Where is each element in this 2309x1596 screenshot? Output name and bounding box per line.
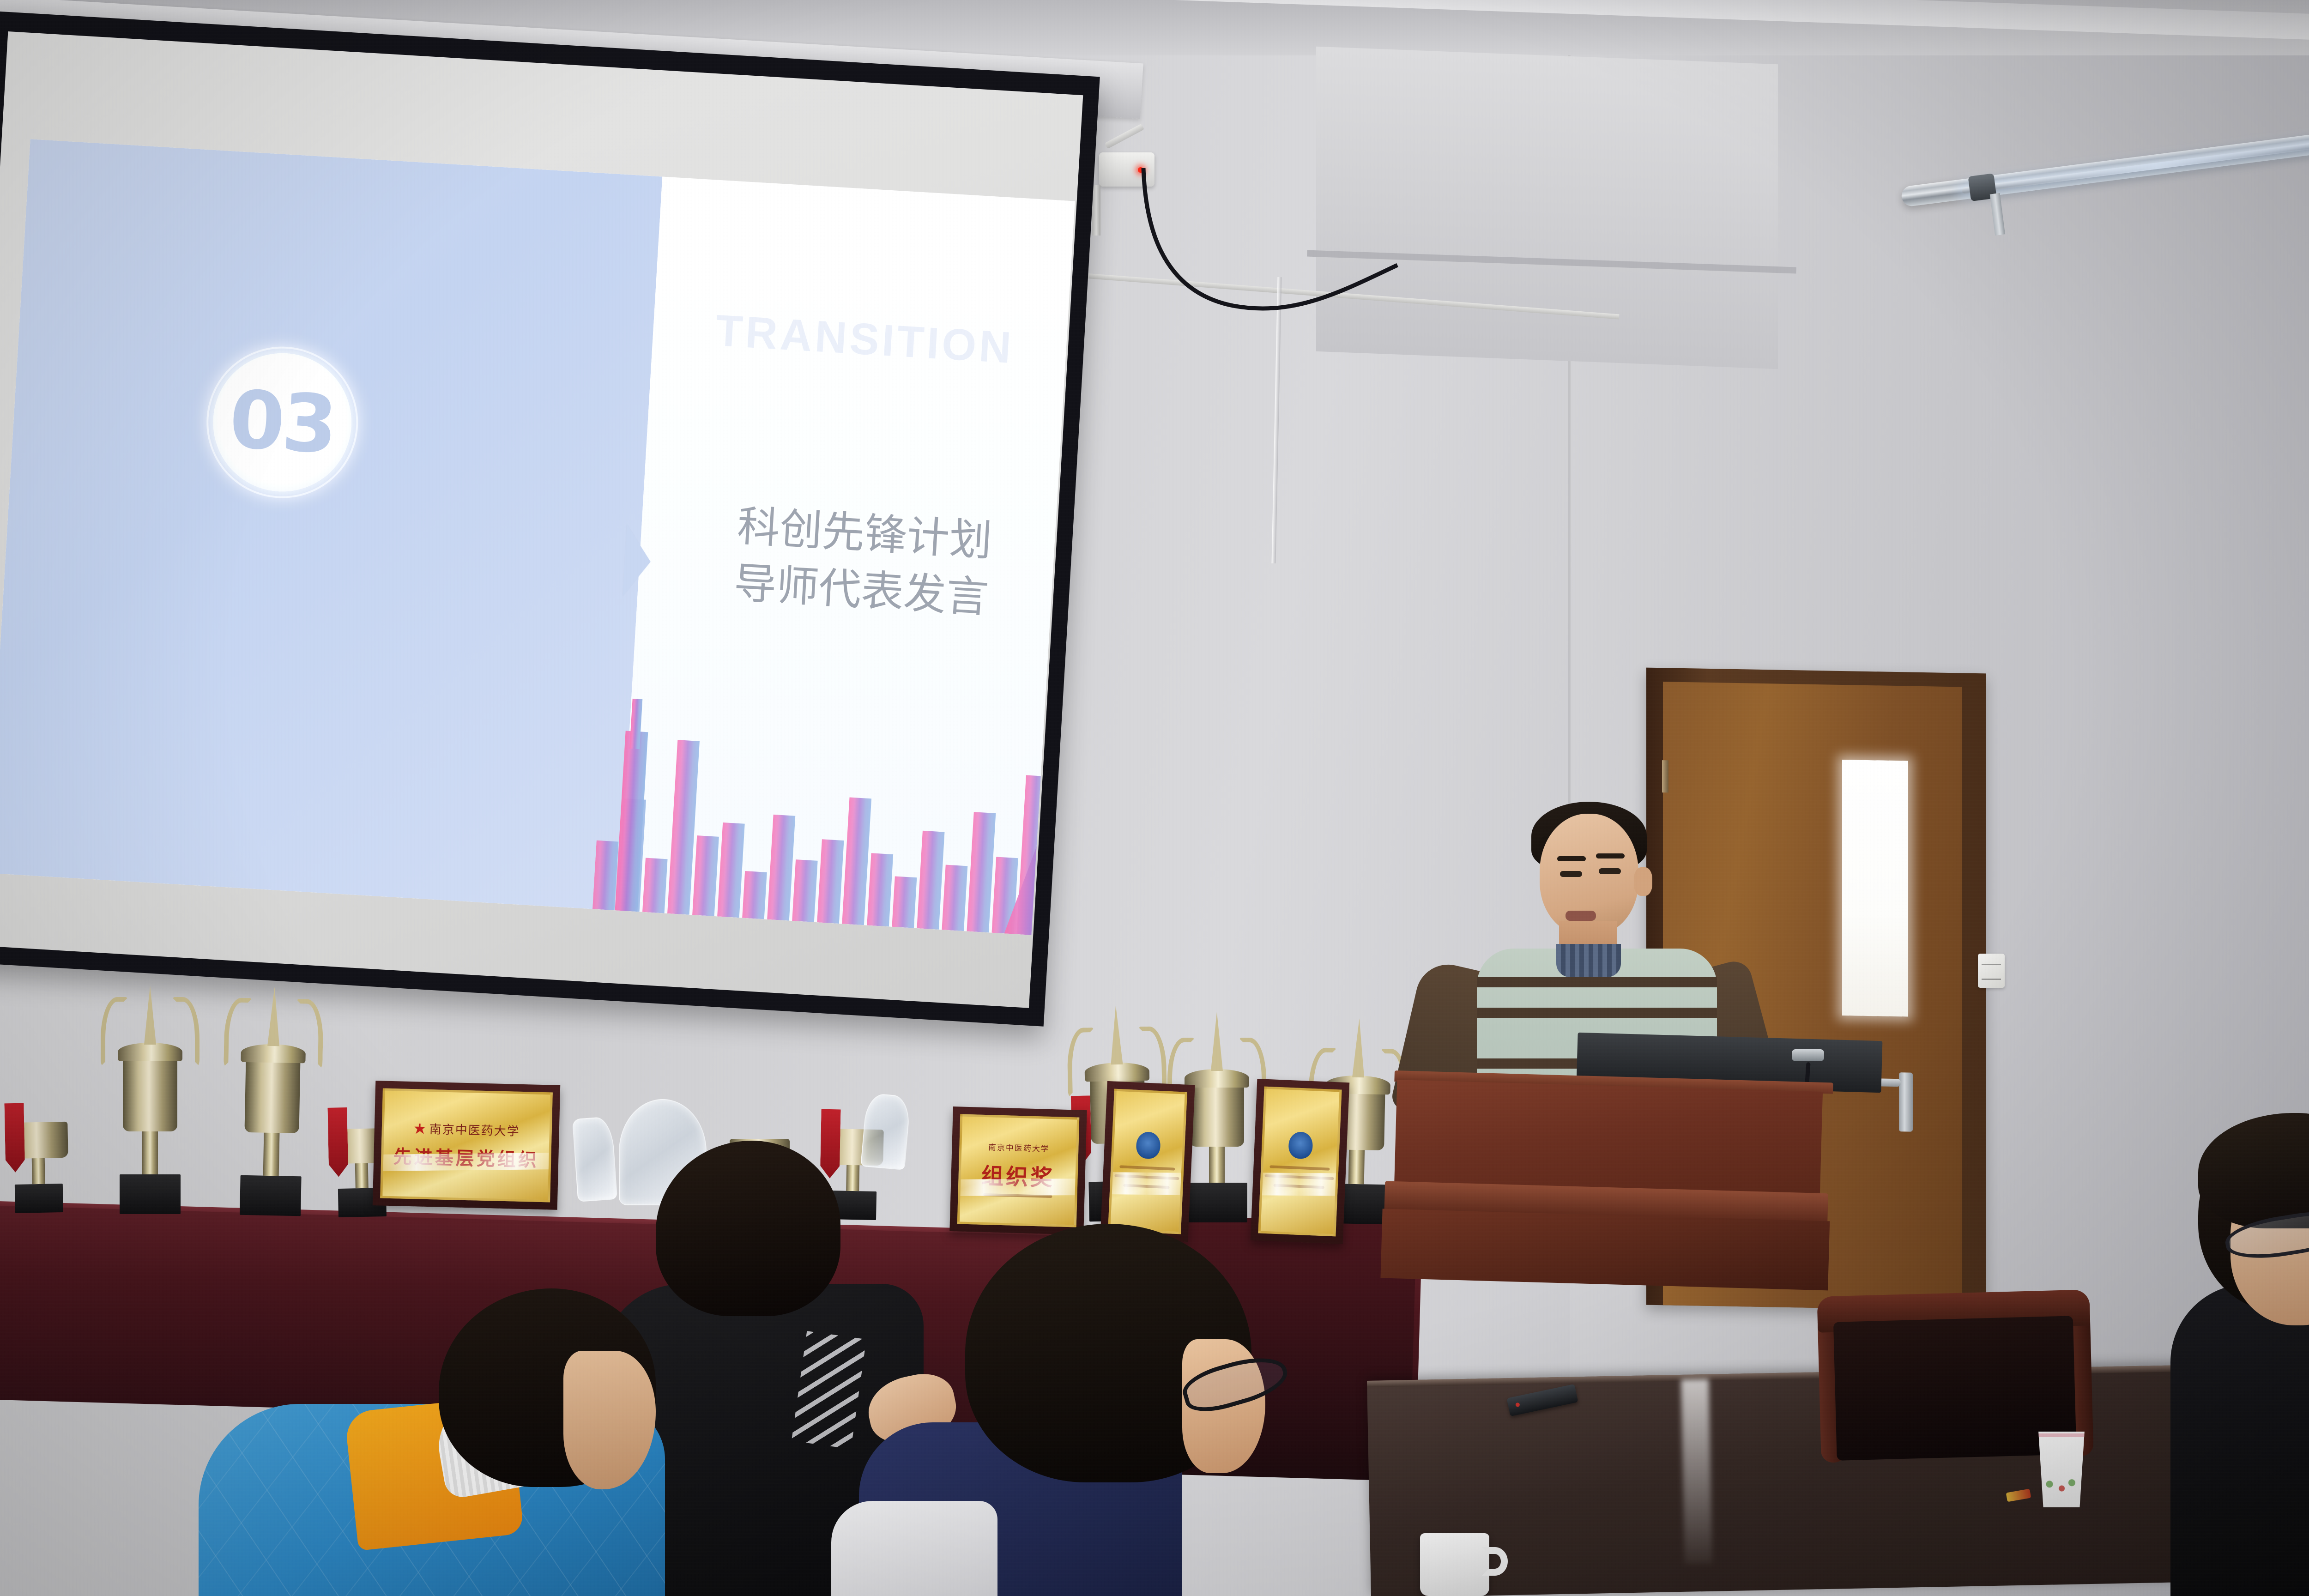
skyline-building bbox=[717, 822, 745, 918]
screen-roller-control[interactable] bbox=[1099, 152, 1154, 187]
cup-rim bbox=[2037, 1433, 2086, 1437]
light-switch[interactable] bbox=[1978, 954, 2005, 988]
projection-screen-surface: 03 TRANSITION 科创先锋计划 导师代表发言 bbox=[0, 31, 1083, 1008]
skyline-building bbox=[767, 815, 795, 921]
paper-cup[interactable] bbox=[2035, 1432, 2088, 1507]
speaker-podium bbox=[1389, 1070, 1833, 1286]
conference-room-scene: Lts 03 TRANSITION 科创先锋计划 导师代表发言 bbox=[0, 0, 2309, 1596]
sweater-stripe-2 bbox=[1477, 1008, 1717, 1018]
section-number-badge: 03 bbox=[209, 349, 355, 496]
trophy-finial bbox=[267, 987, 280, 1046]
plaque-line-1 bbox=[1269, 1165, 1330, 1170]
cup-floral-decor bbox=[2043, 1475, 2079, 1495]
trophy-ribbon bbox=[4, 1103, 25, 1173]
plaque-org-text: 南京中医药大学 bbox=[429, 1122, 520, 1138]
skyline-building bbox=[742, 871, 767, 919]
presenter-plaid-collar bbox=[1556, 944, 1621, 977]
skyline-building bbox=[642, 858, 668, 913]
man-hair bbox=[2198, 1113, 2309, 1228]
trophy-finial bbox=[1352, 1018, 1365, 1077]
trophy-handle-left bbox=[101, 997, 128, 1066]
trophy-base bbox=[15, 1184, 63, 1213]
plaque-blue-emblem-1 bbox=[1100, 1081, 1195, 1242]
trophy-base bbox=[120, 1174, 181, 1214]
plaque-org-line: 南京中医药大学 bbox=[413, 1119, 520, 1139]
plaque-organization-award: 南京中医药大学 组织奖 bbox=[949, 1106, 1087, 1235]
skyline-building bbox=[892, 876, 917, 928]
trophy-cup bbox=[1190, 1084, 1244, 1147]
plaque-inner: 南京中医药大学 组织奖 bbox=[957, 1114, 1080, 1227]
slide-title: 科创先锋计划 导师代表发言 bbox=[732, 498, 994, 627]
trophy bbox=[97, 997, 203, 1214]
plaque-blue-emblem-2 bbox=[1251, 1079, 1349, 1244]
presentation-slide: 03 TRANSITION 科创先锋计划 导师代表发言 bbox=[0, 139, 1075, 935]
plaque-line-2 bbox=[1114, 1174, 1179, 1180]
presenter-ear bbox=[1634, 867, 1652, 896]
presenter-brow-right bbox=[1596, 853, 1625, 858]
presenter-brow-left bbox=[1557, 856, 1586, 861]
skyline-building bbox=[842, 797, 872, 925]
skyline-building bbox=[942, 864, 968, 931]
skyline-building bbox=[967, 812, 996, 932]
microphone-mount bbox=[1792, 1049, 1824, 1061]
presenter-mouth bbox=[1566, 911, 1596, 921]
skyline-building bbox=[917, 831, 945, 930]
trophy-handle-left bbox=[224, 997, 253, 1067]
audience-student-navy-glasses bbox=[859, 1224, 1404, 1596]
trophy bbox=[217, 997, 327, 1216]
trophy-stem bbox=[1209, 1142, 1225, 1183]
party-emblem-icon bbox=[414, 1123, 426, 1135]
audience-student-blue-jacket bbox=[199, 1265, 753, 1596]
podium-front-panel bbox=[1394, 1080, 1823, 1198]
projection-screen: 03 TRANSITION 科创先锋计划 导师代表发言 bbox=[0, 11, 1100, 1027]
plaque-award-text: 先进基层党组织 bbox=[393, 1142, 539, 1172]
white-mug[interactable] bbox=[1420, 1533, 1489, 1596]
slide-left-panel bbox=[0, 139, 662, 911]
switch-rocker-2[interactable] bbox=[1982, 979, 2001, 980]
trophy-stem bbox=[263, 1128, 280, 1176]
table-glare bbox=[1681, 1379, 1712, 1564]
slide-arrow-notch bbox=[623, 524, 653, 598]
plaque-party-org: 南京中医药大学 先进基层党组织 bbox=[373, 1081, 560, 1210]
door-hinge-top bbox=[1662, 760, 1668, 792]
plaque-line-1 bbox=[1119, 1165, 1175, 1170]
plaque-inner: 南京中医药大学 先进基层党组织 bbox=[380, 1088, 553, 1203]
skyline-building bbox=[692, 835, 719, 916]
plaque-org-text: 南京中医药大学 bbox=[988, 1141, 1050, 1154]
skyline-building bbox=[817, 839, 844, 924]
plaque-footer-line bbox=[983, 1193, 1052, 1197]
plaque-inner bbox=[1108, 1089, 1187, 1234]
trophy-base bbox=[240, 1175, 302, 1216]
trophy-finial bbox=[1211, 1012, 1223, 1071]
door-glass-panel bbox=[1842, 760, 1908, 1016]
power-led-icon bbox=[1138, 167, 1143, 173]
presenter-eye-right bbox=[1599, 868, 1621, 874]
trophy-base bbox=[1186, 1183, 1247, 1222]
trophy-handle-left bbox=[1067, 1028, 1096, 1097]
trophy-cup bbox=[244, 1058, 300, 1133]
plaque-line-2 bbox=[1265, 1174, 1334, 1180]
skyline-building bbox=[792, 859, 817, 922]
blue-emblem-icon bbox=[1136, 1131, 1161, 1159]
trophy-handle-right bbox=[295, 999, 324, 1069]
sweater-stripe-1 bbox=[1477, 977, 1717, 987]
plaque-award-text: 组织奖 bbox=[981, 1157, 1055, 1191]
podium-base bbox=[1380, 1209, 1830, 1290]
trophy-ribbon bbox=[327, 1107, 348, 1177]
blue-emblem-icon bbox=[1288, 1131, 1313, 1159]
trophy-cup bbox=[123, 1058, 177, 1131]
trophy-stem bbox=[1348, 1145, 1365, 1185]
mug-handle bbox=[1482, 1547, 1508, 1576]
city-skyline-graphic bbox=[592, 659, 1075, 935]
skyline-building bbox=[592, 840, 618, 911]
door-lever-handle[interactable] bbox=[1899, 1072, 1913, 1132]
switch-rocker-1[interactable] bbox=[1982, 964, 2001, 965]
plaque-line-3 bbox=[1274, 1184, 1324, 1189]
wall-soffit bbox=[1316, 47, 1778, 369]
trophy-stem bbox=[142, 1127, 158, 1174]
audience-man-black-coat bbox=[2143, 1113, 2309, 1596]
plaque-inner bbox=[1258, 1087, 1342, 1237]
trophy-finial bbox=[1110, 1005, 1123, 1064]
roller-mount-leg bbox=[1092, 185, 1100, 236]
trophy-finial bbox=[144, 985, 156, 1045]
skyline-building bbox=[867, 853, 894, 927]
black-coat bbox=[2170, 1284, 2309, 1596]
remote-led-icon bbox=[1515, 1403, 1520, 1408]
trophy bbox=[0, 1073, 79, 1213]
presenter-eye-left bbox=[1560, 871, 1582, 877]
trophy-handle-right bbox=[172, 997, 199, 1066]
plaque-line-3 bbox=[1123, 1184, 1169, 1189]
white-shoulder-panel bbox=[831, 1501, 997, 1596]
